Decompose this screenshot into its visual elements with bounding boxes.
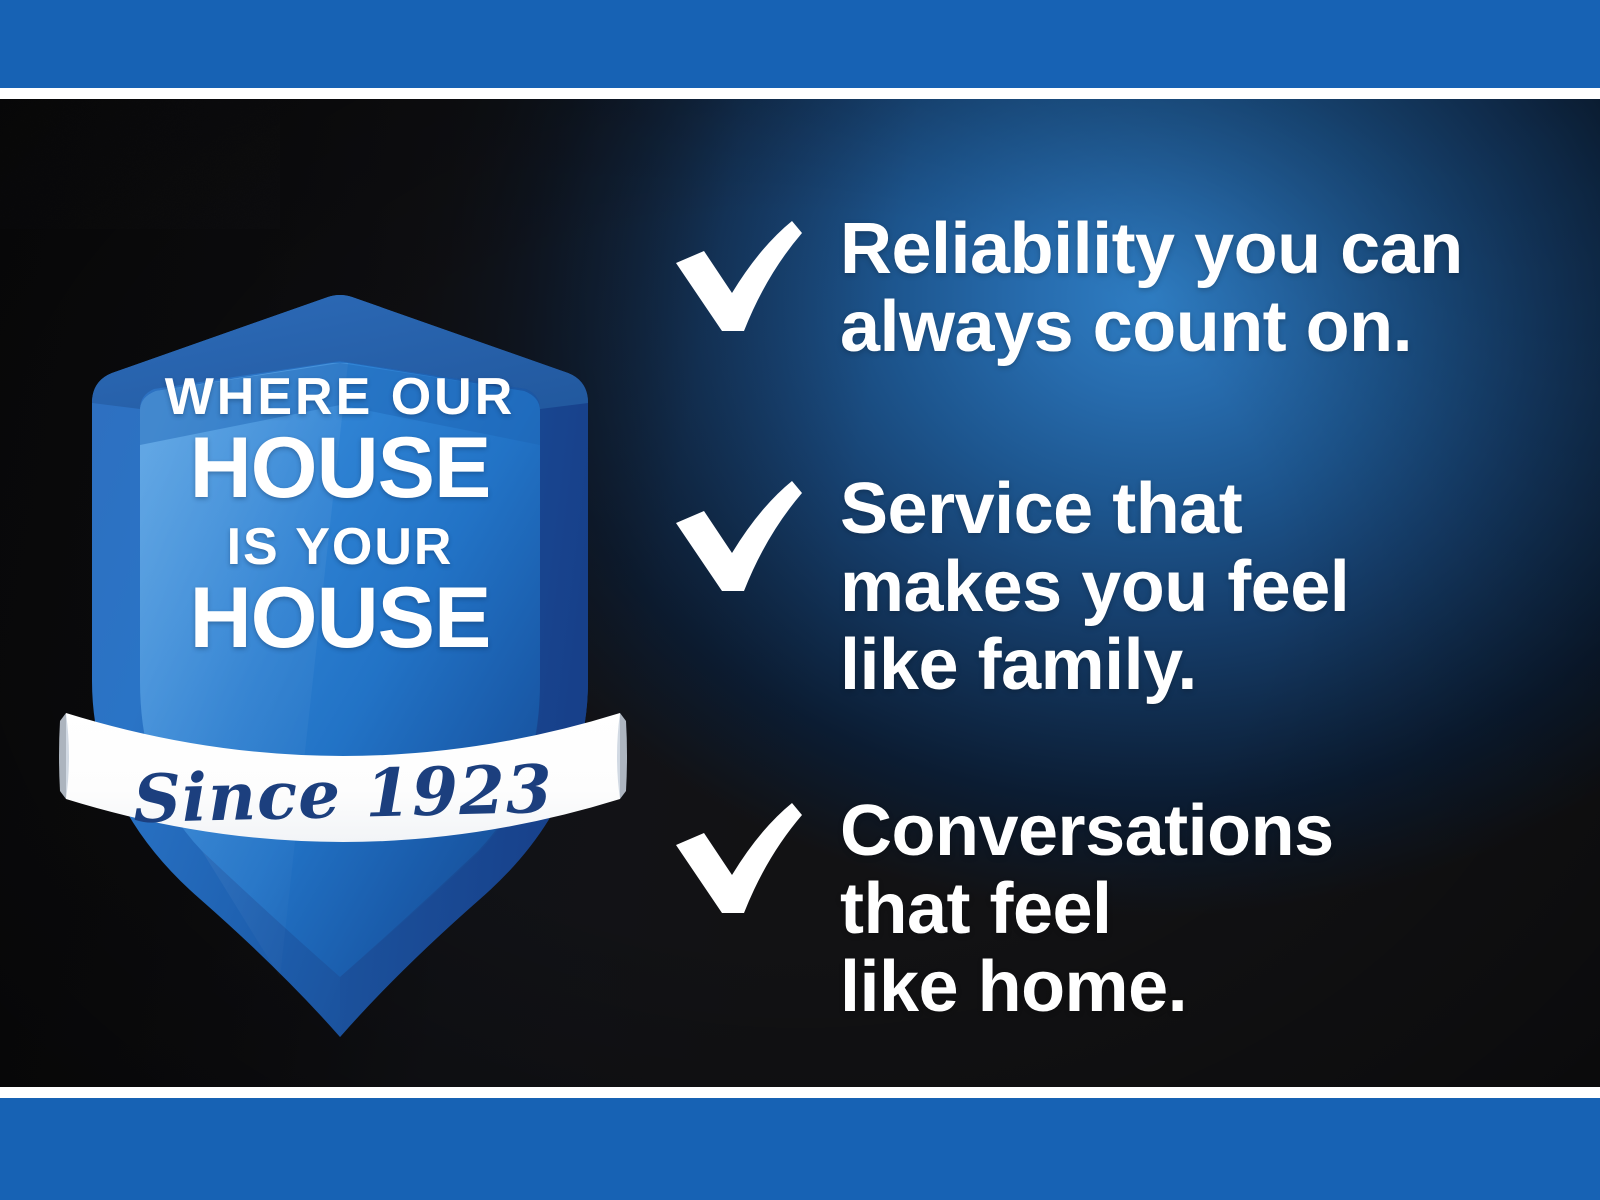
background-grain-texture (0, 99, 280, 229)
benefit-item: Reliability you can always count on. (668, 211, 1548, 367)
since-ribbon: Since 1923 (58, 687, 628, 887)
benefit-item: Conversations that feel like home. (668, 793, 1548, 1026)
checkmark-icon (668, 477, 804, 595)
benefit-text: Conversations that feel like home. (840, 793, 1548, 1026)
benefit-text: Reliability you can always count on. (840, 211, 1548, 367)
promo-banner: Where Our House Is Your House (0, 0, 1600, 1200)
top-brand-bar (0, 0, 1600, 88)
ribbon-right-edge (617, 713, 627, 799)
top-divider-stripe (0, 88, 1600, 99)
bottom-brand-bar (0, 1098, 1600, 1200)
ribbon-band (66, 713, 620, 842)
benefit-item: Service that makes you feel like family. (668, 471, 1548, 704)
checkmark-icon (668, 217, 804, 335)
benefit-text: Service that makes you feel like family. (840, 471, 1548, 704)
checkmark-icon (668, 799, 804, 917)
bottom-divider-stripe (0, 1087, 1600, 1098)
benefits-list: Reliability you can always count on. Ser… (668, 99, 1548, 1087)
ribbon-left-edge (59, 713, 69, 799)
